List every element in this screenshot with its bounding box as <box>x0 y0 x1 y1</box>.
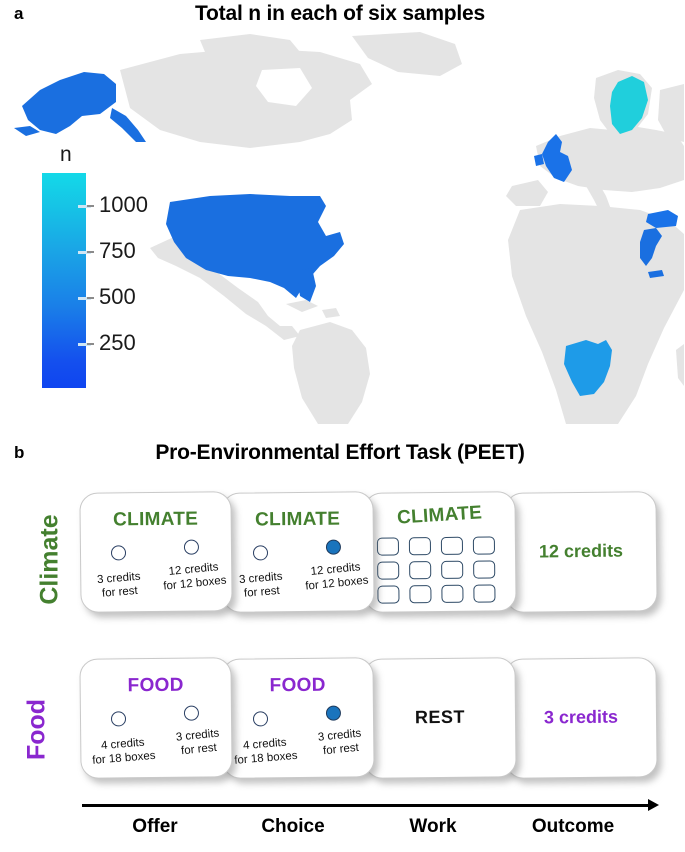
panel-b-title: Pro-Environmental Effort Task (PEET) <box>100 441 580 465</box>
work-box[interactable] <box>473 560 495 578</box>
food-outcome-text: 3 credits <box>506 706 656 729</box>
food-offer-right-option: 3 credits for rest <box>162 725 234 760</box>
colorbar-label-750: 750 <box>99 238 136 264</box>
climate-offer-header: CLIMATE <box>81 508 231 532</box>
stage-label-outcome: Outcome <box>498 816 648 838</box>
climate-choice-left-radio[interactable] <box>253 545 268 560</box>
colorbar-outer-tick-500 <box>87 297 94 299</box>
stage-label-work: Work <box>358 816 508 838</box>
work-box[interactable] <box>441 585 463 603</box>
food-choice-right-radio-selected[interactable] <box>326 706 341 721</box>
climate-offer-right-radio[interactable] <box>184 540 199 555</box>
climate-choice-left-option: 3 credits for rest <box>226 569 296 602</box>
climate-work-card[interactable]: CLIMATE <box>363 491 516 613</box>
work-box[interactable] <box>409 537 431 555</box>
work-box[interactable] <box>441 537 463 555</box>
work-box[interactable] <box>441 561 463 579</box>
food-choice-left-option: 4 credits for 18 boxes <box>224 734 306 768</box>
food-offer-card[interactable]: FOOD 4 credits for 18 boxes 3 credits fo… <box>79 657 232 779</box>
row-label-climate: Climate <box>36 505 65 615</box>
colorbar-outer-tick-250 <box>87 343 94 345</box>
peet-task-diagram: Climate Food CLIMATE 3 credits for rest … <box>0 470 685 852</box>
panel-a-letter: a <box>14 4 23 24</box>
work-box[interactable] <box>377 585 399 603</box>
opt-line1: 3 credits <box>239 571 283 586</box>
food-choice-right-option: 3 credits for rest <box>304 725 376 760</box>
work-box[interactable] <box>377 537 399 555</box>
work-box[interactable] <box>409 561 431 579</box>
food-work-card[interactable]: REST <box>363 657 516 779</box>
map-svg <box>0 30 685 425</box>
stage-timeline-axis <box>82 804 652 807</box>
opt-line2: for 18 boxes <box>92 750 156 767</box>
climate-choice-card[interactable]: CLIMATE 3 credits for rest 12 credits fo… <box>221 491 374 613</box>
climate-outcome-card[interactable]: 12 credits <box>504 491 657 613</box>
climate-offer-card[interactable]: CLIMATE 3 credits for rest 12 credits fo… <box>79 491 232 613</box>
colorbar-label-500: 500 <box>99 284 136 310</box>
food-offer-left-option: 4 credits for 18 boxes <box>82 734 164 768</box>
climate-choice-right-option: 12 credits for 12 boxes <box>294 559 378 595</box>
stage-label-choice: Choice <box>218 816 368 838</box>
work-box[interactable] <box>409 585 431 603</box>
climate-offer-left-radio[interactable] <box>111 545 126 560</box>
climate-work-box-grid[interactable] <box>377 536 506 605</box>
food-choice-left-radio[interactable] <box>253 711 268 726</box>
work-box[interactable] <box>377 561 399 579</box>
opt-line1: 3 credits <box>97 571 141 586</box>
climate-choice-right-radio-selected[interactable] <box>326 540 341 555</box>
work-box[interactable] <box>473 584 495 602</box>
opt-line2: for rest <box>181 742 218 757</box>
colorbar-outer-tick-1000 <box>87 205 94 207</box>
world-map-choropleth: n 1000 750 500 250 <box>0 30 685 425</box>
climate-offer-right-option: 12 credits for 12 boxes <box>152 559 236 595</box>
colorbar-outer-tick-750 <box>87 251 94 253</box>
stage-label-offer: Offer <box>80 816 230 838</box>
panel-b-letter: b <box>14 443 24 463</box>
panel-a-title: Total n in each of six samples <box>100 2 580 26</box>
food-work-text: REST <box>365 706 515 729</box>
colorbar-label-1000: 1000 <box>99 192 148 218</box>
colorbar-gradient <box>42 173 86 388</box>
opt-line2: for rest <box>323 742 360 757</box>
opt-line2: for rest <box>102 585 139 600</box>
opt-line2: for rest <box>244 585 281 600</box>
food-choice-card[interactable]: FOOD 4 credits for 18 boxes 3 credits fo… <box>221 657 374 779</box>
work-box[interactable] <box>473 536 495 554</box>
climate-outcome-text: 12 credits <box>506 540 656 563</box>
colorbar-label: n <box>60 143 72 167</box>
food-offer-left-radio[interactable] <box>111 711 126 726</box>
food-outcome-card[interactable]: 3 credits <box>504 657 657 779</box>
food-offer-header: FOOD <box>81 674 231 698</box>
climate-offer-left-option: 3 credits for rest <box>84 569 154 602</box>
row-label-food: Food <box>23 675 52 785</box>
climate-choice-header: CLIMATE <box>223 508 373 532</box>
climate-work-header: CLIMATE <box>364 500 515 531</box>
food-offer-right-radio[interactable] <box>184 706 199 721</box>
colorbar-label-250: 250 <box>99 330 136 356</box>
opt-line1: 4 credits <box>243 737 287 752</box>
stage-timeline-arrow-icon <box>648 799 659 811</box>
food-choice-header: FOOD <box>223 674 373 698</box>
opt-line1: 4 credits <box>101 737 145 752</box>
opt-line2: for 18 boxes <box>234 750 298 767</box>
